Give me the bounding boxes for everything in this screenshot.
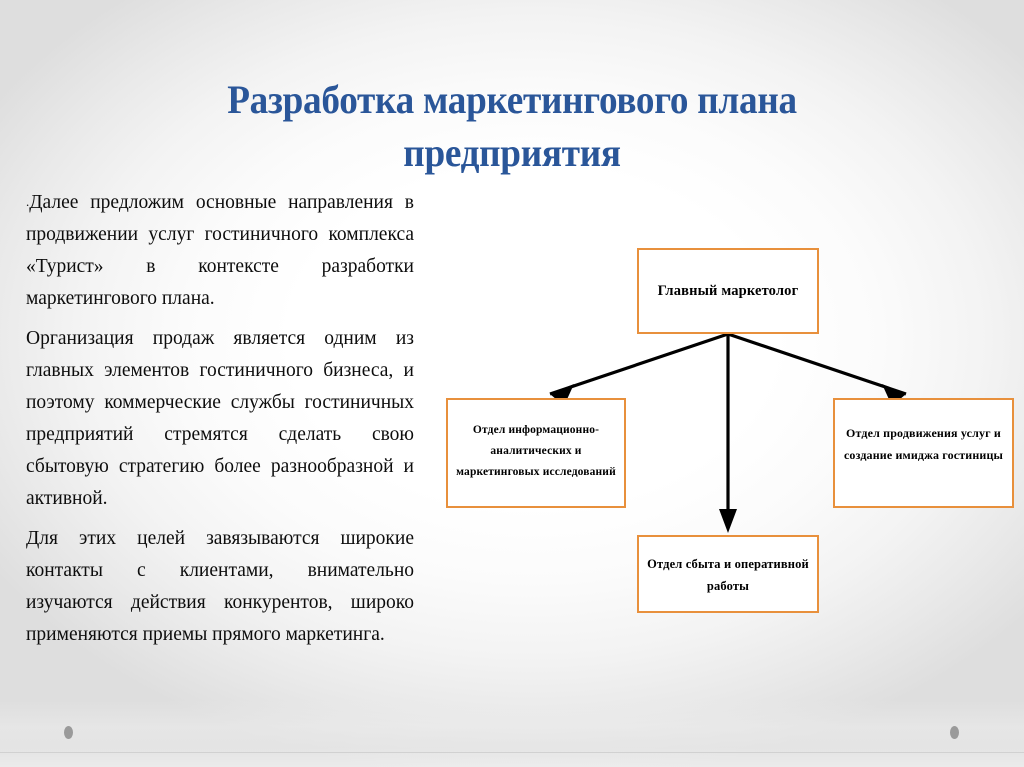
slide-title-line-2: предприятия — [92, 126, 933, 179]
arrow-to-left-department — [550, 334, 728, 406]
node-promotion-department[interactable]: Отдел продвижения услуг и создание имидж… — [833, 398, 1014, 508]
node-sales-department[interactable]: Отдел сбыта и оперативной работы — [637, 535, 819, 613]
slide-title: Разработка маркетингового плана предприя… — [92, 73, 933, 179]
footer-dot-right-icon — [950, 726, 959, 739]
body-paragraph-2: Организация продаж является одним из гла… — [26, 323, 414, 515]
footer-dot-left-icon — [64, 726, 73, 739]
slide-bottom-band — [0, 700, 1024, 767]
body-paragraph-1: .Далее предложим основные направления в … — [26, 186, 414, 315]
slide-canvas: Разработка маркетингового плана предприя… — [0, 0, 1024, 767]
node-chief-marketer-label: Главный маркетолог — [639, 280, 817, 303]
slide-bottom-divider — [0, 752, 1024, 753]
node-sales-department-label: Отдел сбыта и оперативной работы — [639, 553, 817, 597]
node-analytics-department-label: Отдел информационно-аналитических и марк… — [448, 420, 624, 483]
arrow-to-right-department — [728, 334, 906, 406]
slide-title-line-1: Разработка маркетингового плана — [92, 73, 933, 126]
node-chief-marketer[interactable]: Главный маркетолог — [637, 248, 819, 334]
body-text-column: .Далее предложим основные направления в … — [26, 186, 414, 651]
body-paragraph-1-text: Далее предложим основные направления в п… — [26, 192, 414, 309]
node-promotion-department-label: Отдел продвижения услуг и создание имидж… — [835, 422, 1012, 466]
org-chart-diagram: Главный маркетолог Отдел информационно-а… — [430, 230, 1024, 630]
arrow-to-bottom-department — [719, 334, 737, 533]
node-analytics-department[interactable]: Отдел информационно-аналитических и марк… — [446, 398, 626, 508]
body-paragraph-3: Для этих целей завязываются широкие конт… — [26, 523, 414, 651]
